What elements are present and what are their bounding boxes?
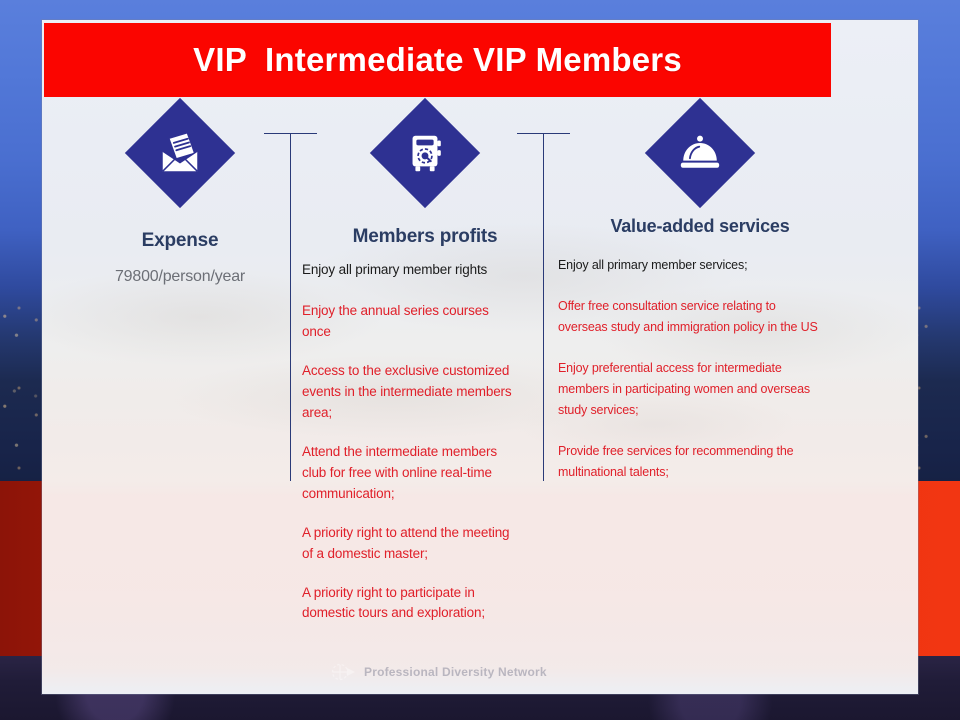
benefit-item: Enjoy preferential access for intermedia… — [558, 358, 820, 421]
benefit-item: Enjoy all primary member services; — [558, 255, 820, 276]
column-title-expense: Expense — [55, 230, 305, 252]
diamond-badge-value-added-services — [550, 100, 850, 206]
serving-dome-cloche-icon — [677, 130, 723, 176]
benefit-item: Provide free services for recommending t… — [558, 441, 820, 483]
benefit-item: Enjoy all primary member rights — [302, 260, 517, 281]
expense-price: 79800/person/year — [55, 268, 305, 286]
benefit-item: Offer free consultation service relating… — [558, 296, 820, 338]
diamond-shape — [125, 98, 235, 208]
benefit-item: Attend the intermediate members club for… — [302, 442, 517, 505]
diamond-shape — [645, 98, 755, 208]
envelope-mail-icon — [157, 130, 203, 176]
benefits-list-members-profits: Enjoy all primary member rights Enjoy th… — [300, 260, 550, 624]
title-banner: VIP Intermediate VIP Members — [44, 23, 831, 97]
slide-canvas: VIP Intermediate VIP Members — [0, 0, 960, 720]
benefits-list-value-added-services: Enjoy all primary member services; Offer… — [550, 255, 850, 483]
watermark: Professional Diversity Network — [330, 662, 547, 682]
diamond-badge-members-profits — [300, 100, 550, 206]
diamond-badge-expense — [55, 100, 305, 206]
column-title-members-profits: Members profits — [300, 226, 550, 248]
column-title-value-added-services: Value-added services — [550, 216, 850, 237]
pdn-logo-icon — [330, 662, 356, 682]
page-title: VIP Intermediate VIP Members — [193, 41, 682, 79]
column-expense: Expense 79800/person/year — [55, 100, 305, 286]
watermark-text: Professional Diversity Network — [364, 665, 547, 679]
benefit-item: A priority right to participate in domes… — [302, 583, 517, 625]
column-members-profits: Members profits Enjoy all primary member… — [300, 100, 550, 642]
column-value-added-services: Value-added services Enjoy all primary m… — [550, 100, 850, 503]
diamond-shape — [370, 98, 480, 208]
benefit-item: A priority right to attend the meeting o… — [302, 523, 517, 565]
safe-vault-icon — [402, 130, 448, 176]
benefit-item: Access to the exclusive customized event… — [302, 361, 517, 424]
benefit-item: Enjoy the annual series courses once — [302, 301, 517, 343]
